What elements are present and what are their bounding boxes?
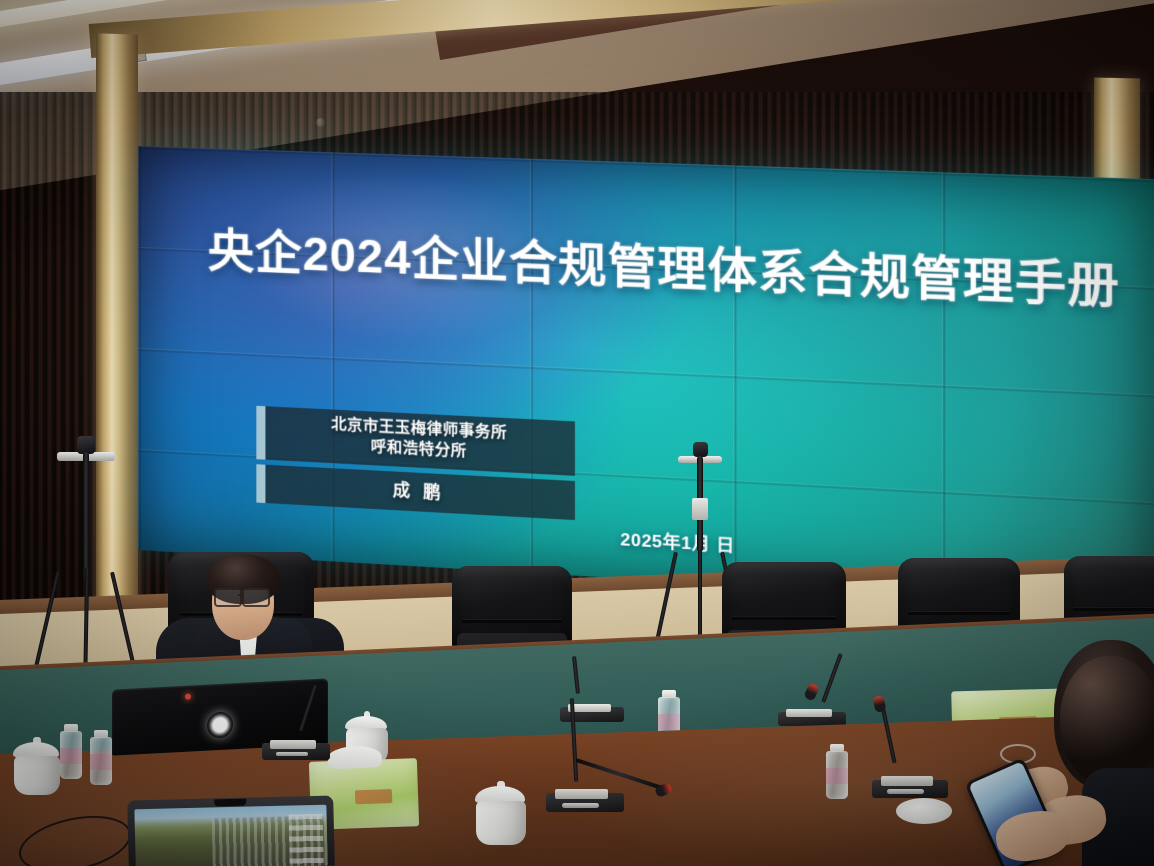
tissue-box-label <box>355 789 392 804</box>
microphone-3[interactable] <box>778 696 846 726</box>
cup-3 <box>476 786 526 844</box>
presenter-glasses-left-lens <box>214 588 242 607</box>
mic-talk-button[interactable] <box>562 803 599 808</box>
conference-room-photo: 央企2024企业合规管理体系合规管理手册 北京市王玉梅律师事务所 呼和浩特分所 … <box>0 0 1154 866</box>
laptop-webcam-notch <box>214 799 247 807</box>
chair-seam <box>908 611 1010 615</box>
laptop-foreground[interactable] <box>127 795 335 866</box>
cup-body <box>476 801 526 845</box>
tripod-accessory-center <box>692 498 708 520</box>
tissue-popup <box>328 745 383 769</box>
presenter-glasses-bridge <box>238 594 244 596</box>
mic-talk-button[interactable] <box>276 752 309 756</box>
laptop-desktop-icons[interactable] <box>289 813 324 864</box>
bottle-label <box>90 754 112 770</box>
chair-seam <box>1073 607 1154 611</box>
microphone-4[interactable] <box>872 758 948 798</box>
chair-seam <box>732 616 836 620</box>
microphone-5[interactable] <box>262 724 330 760</box>
mic-panel <box>786 709 832 717</box>
laptop-screen[interactable] <box>134 805 327 866</box>
mic-panel <box>881 776 933 786</box>
camera-center <box>693 442 708 457</box>
tripod-column-left <box>83 452 89 580</box>
bottle-label <box>60 748 82 764</box>
cup-1 <box>14 742 60 794</box>
cup-body <box>14 756 60 796</box>
saucer-plate <box>896 798 952 824</box>
presenter-glasses-right-lens <box>242 588 270 607</box>
attendee-hair-highlight <box>1060 656 1154 786</box>
bottle-label <box>826 768 848 784</box>
bottle-label <box>658 714 680 730</box>
chair-seam <box>462 619 563 623</box>
mic-panel <box>270 740 316 749</box>
mic-talk-button[interactable] <box>887 789 923 794</box>
mic-panel <box>555 789 608 800</box>
video-wall-display[interactable]: 央企2024企业合规管理体系合规管理手册 北京市王玉梅律师事务所 呼和浩特分所 … <box>138 146 1154 610</box>
microphone-1[interactable] <box>546 770 624 812</box>
